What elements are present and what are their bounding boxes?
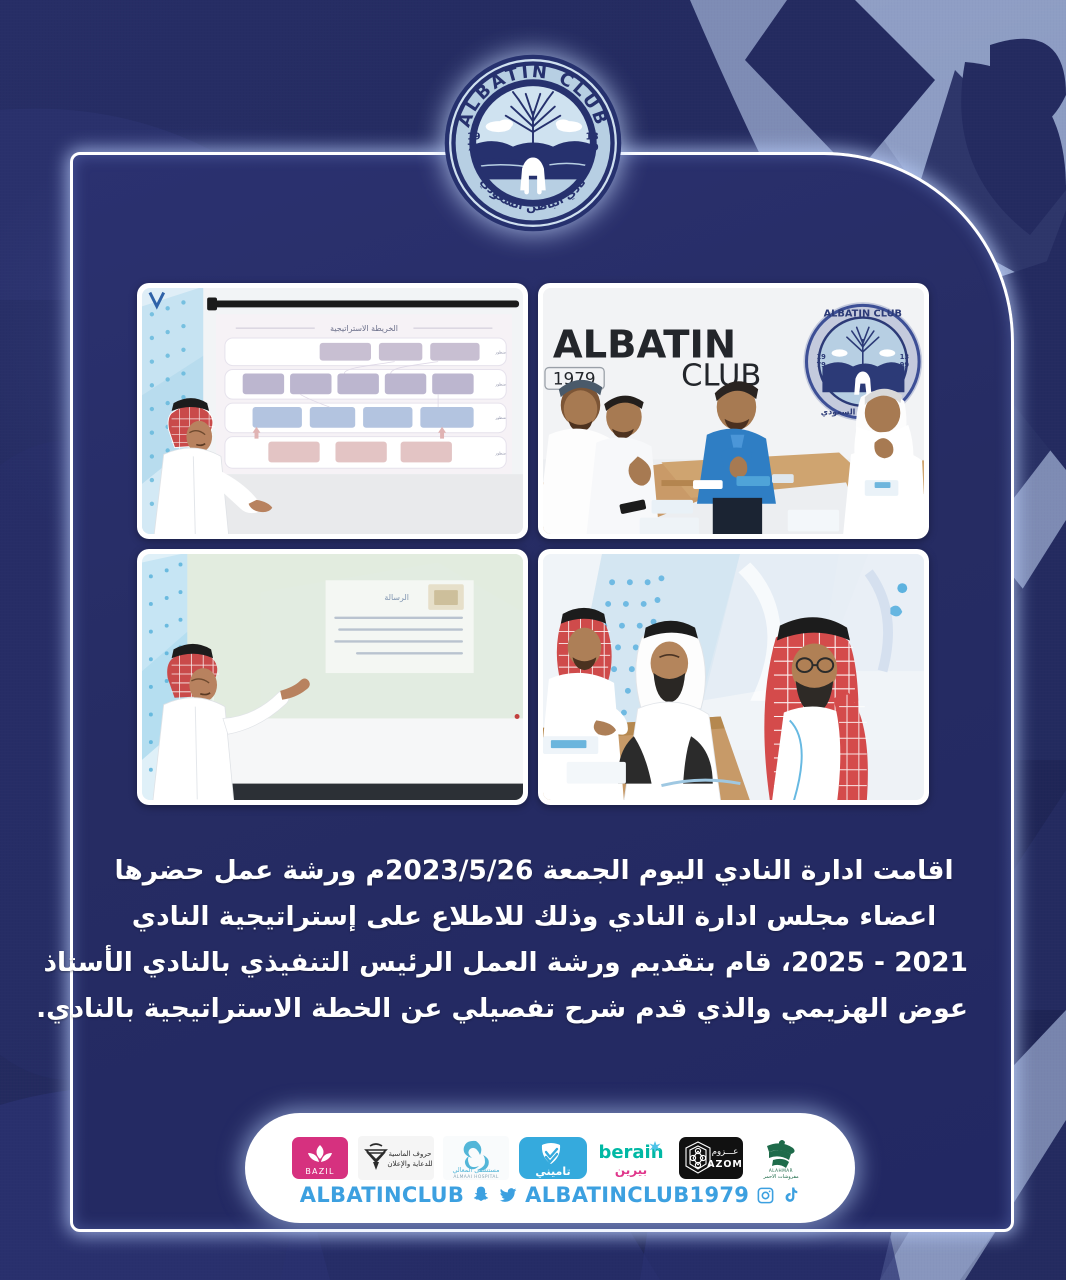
sponsor-almaai-arabic: مستشفى المعالي (452, 1166, 499, 1174)
crest-year-right-bottom: 99 (586, 142, 600, 153)
svg-text:13: 13 (900, 353, 910, 361)
social-handles-row: ALBATINCLUB ALBATINCLUB1979 (300, 1185, 800, 1206)
photo-4-illustration (543, 554, 924, 800)
sponsor-berain-arabic: بيرين (615, 1163, 647, 1177)
twitter-icon[interactable] (498, 1185, 518, 1205)
sponsor-bazil-label: BAZIL (305, 1167, 334, 1176)
sponsor-masiyah-line1: حروف الماسية (388, 1150, 431, 1158)
announcement-line-4: عوض الهزيمي والذي قدم شرح تفصيلي عن الخط… (100, 986, 968, 1032)
photo-1-illustration: الخريطة الاستراتيجية (142, 288, 523, 534)
sponsor-tameeni-label: تاميني (535, 1165, 570, 1178)
svg-text:ALBATIN CLUB: ALBATIN CLUB (824, 308, 902, 319)
social-handle-instagram-tiktok: ALBATINCLUB1979 (525, 1185, 749, 1206)
sponsor-logo-row: BAZIL حروف الماسية للدعاية والإعلان (291, 1135, 809, 1181)
crest-year-left-bottom: 79 (467, 142, 481, 153)
photo-3-illustration: الرسالة (142, 554, 523, 800)
albatin-club-crest-logo: ALBATIN CLUB نادي الباطن السعودي 19 79 1… (442, 52, 624, 234)
social-handle-snapchat-twitter: ALBATINCLUB (300, 1185, 464, 1206)
crest-year-left-top: 19 (467, 131, 481, 142)
sponsor-masiyah-logo[interactable]: حروف الماسية للدعاية والإعلان (358, 1136, 434, 1180)
photo-inner: الرسالة (142, 554, 523, 800)
sponsor-azom-arabic: عـــزوم (712, 1147, 739, 1157)
sponsor-masiyah-line2: للدعاية والإعلان (387, 1160, 432, 1168)
poster-root: ALBATIN CLUB نادي الباطن السعودي 19 79 1… (0, 0, 1066, 1280)
photo-presenter-mission-slide[interactable]: الرسالة (137, 549, 528, 805)
photo-grid: الخريطة الاستراتيجية (137, 283, 929, 805)
svg-text:79: 79 (817, 361, 827, 369)
snapchat-icon[interactable] (471, 1185, 491, 1205)
svg-text:منظور: منظور (494, 450, 505, 455)
photo-inner: ALBATIN 1979 CLUB (543, 288, 924, 534)
photo-presenter-strategy-map[interactable]: الخريطة الاستراتيجية (137, 283, 528, 539)
sponsor-alahmar-latin: ALAHMAR (769, 1168, 793, 1173)
sponsor-almaai-latin: ALMAAI HOSPITAL (453, 1174, 498, 1180)
sponsor-bazil-logo[interactable]: BAZIL (291, 1136, 349, 1180)
sponsor-alahmar-arabic: مفروشات الاحمر (762, 1174, 799, 1180)
photo-meeting-albatin-wall[interactable]: ALBATIN 1979 CLUB (538, 283, 929, 539)
photo-inner (543, 554, 924, 800)
sponsor-bar: BAZIL حروف الماسية للدعاية والإعلان (245, 1113, 855, 1223)
instagram-icon[interactable] (756, 1186, 775, 1205)
sponsor-berain-logo[interactable]: berain بيرين (597, 1136, 669, 1180)
sponsor-azom-latin: AZOM (707, 1159, 743, 1170)
photo-attendees-table[interactable] (538, 549, 929, 805)
announcement-line-2: اعضاء مجلس ادارة النادي وذلك للاطلاع على… (100, 894, 968, 940)
photo-inner: الخريطة الاستراتيجية (142, 288, 523, 534)
svg-text:منظور: منظور (494, 415, 505, 420)
slide-title-mission: الرسالة (384, 593, 409, 602)
svg-text:الخريطة الاستراتيجية: الخريطة الاستراتيجية (330, 324, 398, 333)
svg-text:99: 99 (900, 361, 910, 369)
svg-text:منظور: منظور (494, 350, 505, 355)
crest-year-right-top: 13 (586, 131, 599, 142)
sponsor-almaai-hospital-logo[interactable]: مستشفى المعالي ALMAAI HOSPITAL (443, 1136, 509, 1180)
announcement-text: اقامت ادارة النادي اليوم الجمعة 2023/5/2… (100, 848, 968, 1032)
sponsor-alahmar-logo[interactable]: ALAHMAR مفروشات الاحمر (753, 1136, 809, 1180)
tiktok-icon[interactable] (782, 1186, 800, 1204)
announcement-line-1: اقامت ادارة النادي اليوم الجمعة 2023/5/2… (100, 848, 968, 894)
svg-text:19: 19 (817, 353, 827, 361)
sponsor-tameeni-logo[interactable]: تاميني (518, 1136, 588, 1180)
announcement-line-3: 2021 - 2025، قام بتقديم ورشة العمل الرئي… (100, 940, 968, 986)
svg-text:منظور: منظور (494, 381, 505, 386)
photo-2-illustration: ALBATIN 1979 CLUB (543, 288, 924, 534)
sponsor-azom-logo[interactable]: عـــزوم AZOM (678, 1136, 744, 1180)
